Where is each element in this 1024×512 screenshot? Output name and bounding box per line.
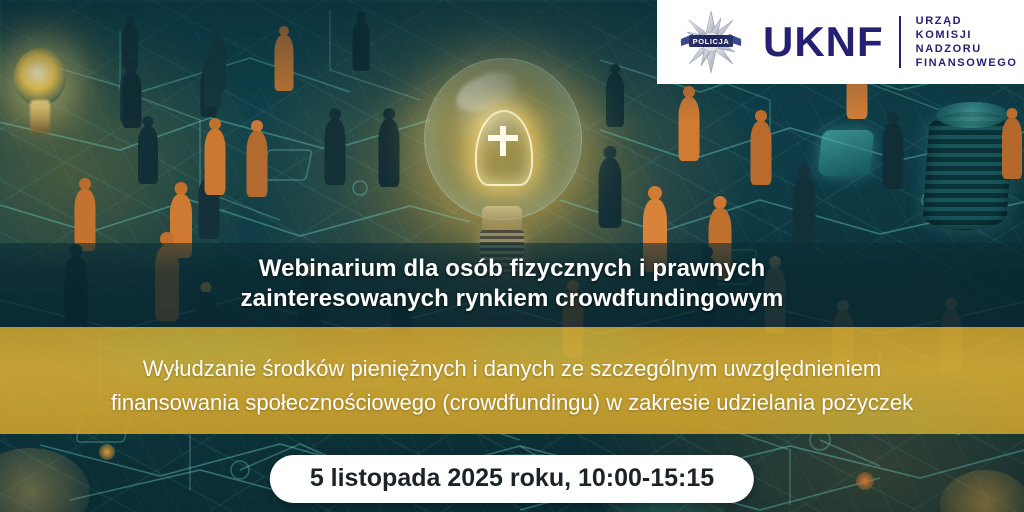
policja-badge-icon: POLICJA (675, 9, 747, 75)
webinar-subtitle: Wyłudzanie środków pieniężnych i danych … (0, 352, 1024, 420)
title-line-2: zainteresowanych rynkiem crowdfundingowy… (0, 284, 1024, 314)
uknf-name-line-2: KOMISJI (916, 28, 1018, 42)
uknf-full-name: URZĄD KOMISJI NADZORU FINANSOWEGO (916, 14, 1018, 70)
logo-panel: POLICJA UKNF URZĄD KOMISJI NADZORU FINAN… (657, 0, 1024, 84)
title-line-1: Webinarium dla osób fizycznych i prawnyc… (0, 254, 1024, 284)
subtitle-line-2: finansowania społecznościowego (crowdfun… (0, 386, 1024, 420)
uknf-name-line-1: URZĄD (916, 14, 1018, 28)
event-date-badge: 5 listopada 2025 roku, 10:00-15:15 (270, 455, 754, 503)
uknf-name-line-3: NADZORU (916, 42, 1018, 56)
webinar-banner: Webinarium dla osób fizycznych i prawnyc… (0, 0, 1024, 512)
logo-divider (899, 16, 901, 68)
policja-badge-label: POLICJA (693, 37, 730, 46)
uknf-name-line-4: FINANSOWEGO (916, 56, 1018, 70)
subtitle-line-1: Wyłudzanie środków pieniężnych i danych … (0, 352, 1024, 386)
uknf-acronym: UKNF (763, 21, 884, 63)
webinar-title: Webinarium dla osób fizycznych i prawnyc… (0, 254, 1024, 314)
